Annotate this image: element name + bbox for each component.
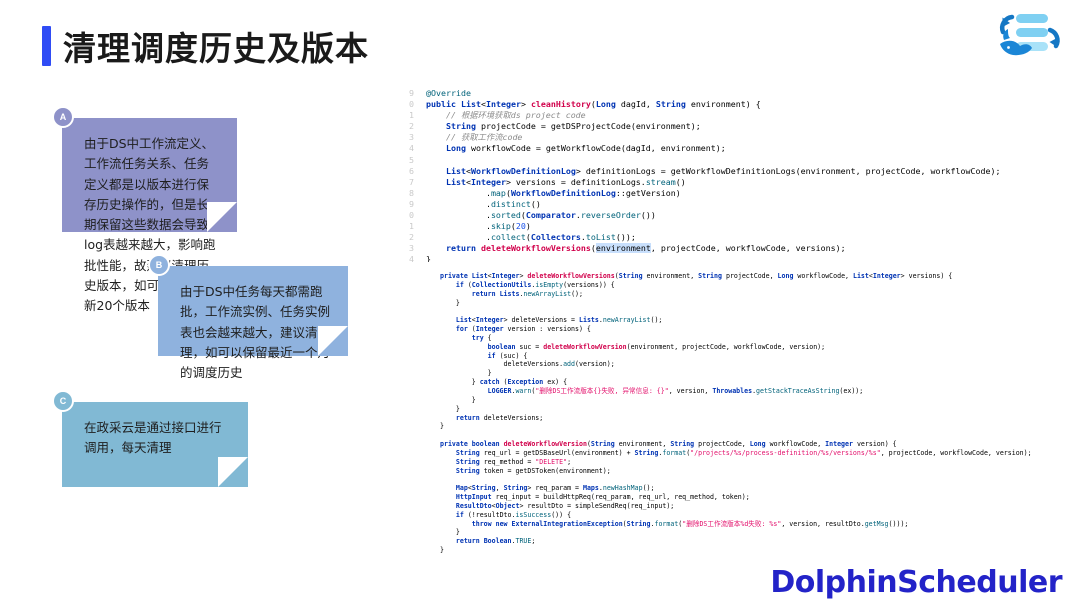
callout-b-text: 由于DS中任务每天都需跑批，工作流实例、任务实例表也会越来越大，建议清理，如可以… [180,284,330,380]
callout-a-tail [207,202,237,232]
dolphinscheduler-logo-icon [988,8,1062,66]
callout-box-b: B 由于DS中任务每天都需跑批，工作流实例、任务实例表也会越来越大，建议清理，如… [158,266,348,356]
callout-c-tail [218,457,248,487]
code-line-numbers: 9 0 1 2 3 4 5 6 7 8 9 0 1 2 3 4 [392,88,414,262]
callout-box-c: C 在政采云是通过接口进行调用，每天清理 [62,402,248,487]
code-screenshot-bottom: private List<Integer> deleteWorkflowVers… [440,272,1080,562]
brand-wordmark: DolphinScheduler [770,565,1062,600]
callout-b-tail [318,326,348,356]
code-content-top: @Override public List<Integer> cleanHist… [426,88,1080,262]
slide-root: 清理调度历史及版本 A 由于DS中工作流定义、工作流任务关系、任务定义都是以版本… [0,0,1080,608]
callout-c-badge: C [52,390,74,412]
callout-b-badge: B [148,254,170,276]
callout-c-text: 在政采云是通过接口进行调用，每天清理 [84,420,222,455]
title-text: 清理调度历史及版本 [63,22,369,70]
code-screenshot-top: 9 0 1 2 3 4 5 6 7 8 9 0 1 2 3 4 @Overrid… [392,88,1080,262]
title-accent-bar [42,26,51,66]
callout-box-a: A 由于DS中工作流定义、工作流任务关系、任务定义都是以版本进行保存历史操作的，… [62,118,237,232]
page-title: 清理调度历史及版本 [42,22,369,70]
callout-a-badge: A [52,106,74,128]
code-content-bottom: private List<Integer> deleteWorkflowVers… [440,272,1080,555]
